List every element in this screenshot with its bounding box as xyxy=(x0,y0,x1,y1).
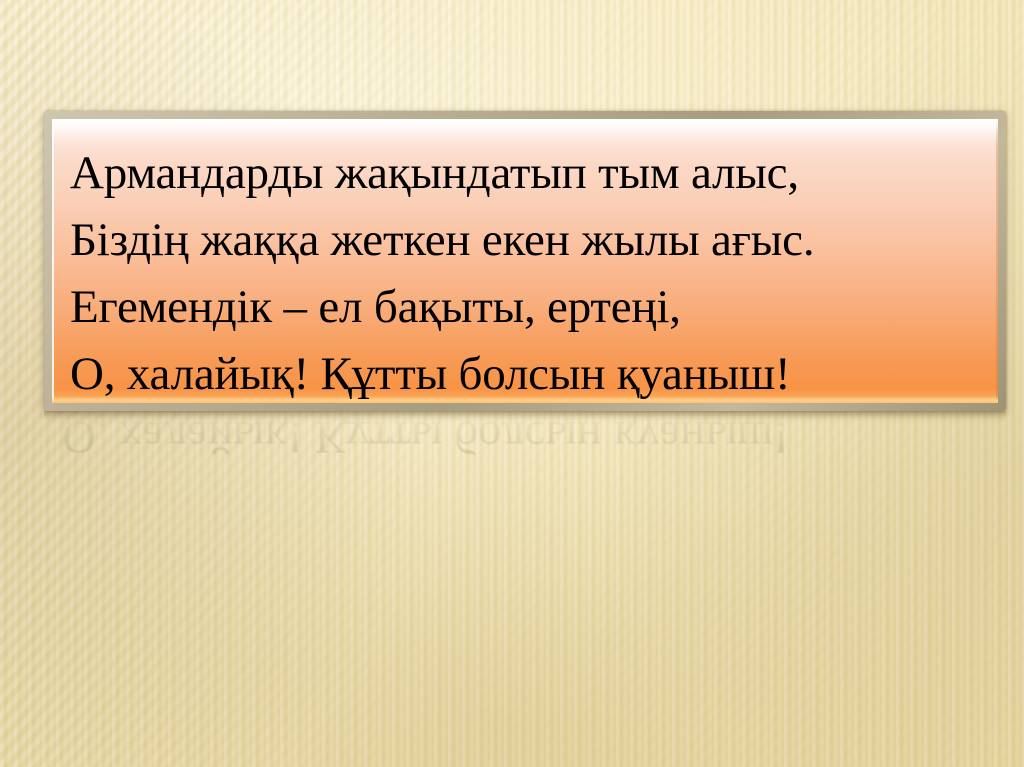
slide-canvas: Армандарды жақындатып тым алыс, Біздің ж… xyxy=(0,0,1024,767)
text-plate: Армандарды жақындатып тым алыс, Біздің ж… xyxy=(44,111,1006,411)
text-plate-face: Армандарды жақындатып тым алыс, Біздің ж… xyxy=(52,119,998,403)
poem-text-block: Армандарды жақындатып тым алыс, Біздің ж… xyxy=(52,119,998,403)
poem-line-2: Біздің жаққа жеткен екен жылы ағыс. xyxy=(70,207,982,274)
poem-line-4: О, халайық! Құтты болсын қуаныш! xyxy=(70,341,982,403)
text-plate-bevel-frame: Армандарды жақындатып тым алыс, Біздің ж… xyxy=(44,111,1006,411)
poem-line-3: Егемендік – ел бақыты, ертеңі, xyxy=(70,274,982,341)
poem-line-1: Армандарды жақындатып тым алыс, xyxy=(70,140,982,207)
